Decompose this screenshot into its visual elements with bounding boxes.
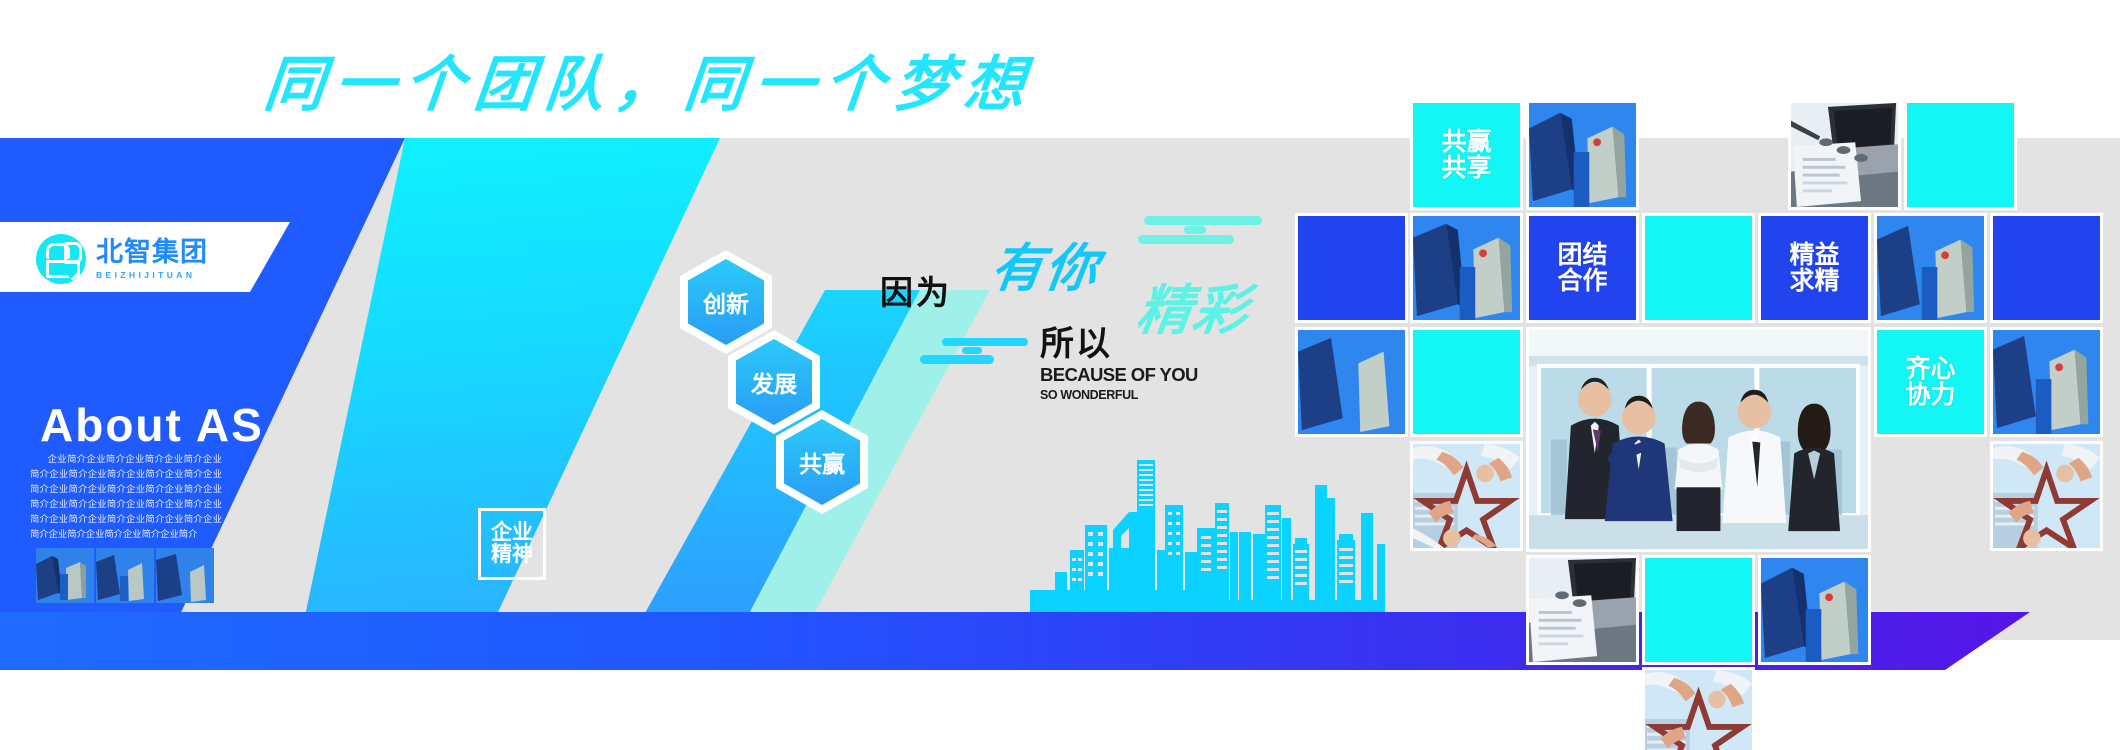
office-towers-art: [36, 548, 94, 603]
tile-winwin-share-line-2: 共享: [1441, 154, 1491, 182]
office-towers-art-3: [156, 548, 214, 603]
cloud-deco-icon-1: [1138, 212, 1268, 255]
photo-mosaic: 共赢共享: [1380, 55, 2120, 695]
tile-solid-cyan-r5[interactable]: [1642, 555, 1755, 665]
tile-excellence[interactable]: 精益求精: [1758, 213, 1871, 323]
about-heading: About AS: [40, 398, 264, 452]
slogan-highlight-2: 精彩: [1132, 266, 1255, 345]
spirit-line-1: 企业: [491, 521, 533, 544]
office-towers-photo-5: [1993, 330, 2100, 434]
hands-star-photo-2: [1993, 444, 2100, 548]
office-towers-photo-4: [1298, 330, 1405, 434]
tile-unity-line-2: 合作: [1557, 267, 1607, 295]
corporate-spirit-box: 企业 精神: [478, 508, 546, 580]
tile-solid-blue-r2-left[interactable]: [1295, 213, 1408, 323]
slogan-block: 因为 有你 精彩 所以 BECAUSE OF YOU SO WONDERFUL: [880, 218, 1300, 418]
tile-unity-cooperation[interactable]: 团结合作: [1526, 213, 1639, 323]
tile-solid-cyan-r1[interactable]: [1904, 100, 2017, 210]
poster-canvas: 同一个团队，同一个梦想 北智集团 BEIZHIJITUAN About AS 企…: [0, 0, 2120, 750]
photo-office-towers: [36, 548, 94, 603]
tile-photo-towers-r3-left[interactable]: [1295, 327, 1408, 437]
tile-photo-team[interactable]: [1526, 327, 1871, 552]
cyan-foot-block: [1030, 590, 1210, 614]
office-towers-art-2: [96, 548, 154, 603]
tile-winwin-share[interactable]: 共赢共享: [1410, 100, 1523, 210]
tile-photo-hands-right[interactable]: [1990, 441, 2103, 551]
hands-star-photo-3: [1645, 670, 1752, 750]
tile-photo-hands-left[interactable]: [1410, 441, 1523, 551]
tile-photo-towers-r2b[interactable]: [1874, 213, 1987, 323]
tile-photo-laptop-r1[interactable]: [1788, 100, 1901, 210]
cloud-deco-icon-2: [920, 336, 1030, 375]
office-towers-photo: [1529, 103, 1636, 207]
photo-office-towers-3: [156, 548, 214, 603]
tile-photo-laptop-r5[interactable]: [1526, 555, 1639, 665]
tile-photo-towers-r3-right[interactable]: [1990, 327, 2103, 437]
tile-unity-line-1: 团结: [1557, 241, 1607, 269]
tile-photo-hands-bottom[interactable]: [1642, 667, 1755, 750]
tile-excellence-line-1: 精益: [1789, 241, 1839, 269]
laptop-desk-photo-2: [1529, 558, 1636, 662]
tile-unity-strength-line-1: 齐心: [1905, 355, 1955, 383]
slogan-english-line-2: SO WONDERFUL: [1040, 388, 1138, 402]
slogan-prefix: 因为: [880, 266, 952, 314]
spirit-line-2: 精神: [491, 543, 533, 566]
slogan-middle: 所以: [1040, 316, 1112, 365]
tile-photo-towers-r5[interactable]: [1758, 555, 1871, 665]
tile-unity-strength[interactable]: 齐心协力: [1874, 327, 1987, 437]
logo: 北智集团 BEIZHIJITUAN: [36, 234, 208, 284]
company-mark-icon: [36, 234, 86, 284]
bottom-left-photo-strip: [36, 548, 214, 603]
office-towers-photo-6: [1761, 558, 1868, 662]
photo-office-towers-2: [96, 548, 154, 603]
logo-name-cn: 北智集团: [96, 239, 208, 266]
slogan-english-line-1: BECAUSE OF YOU: [1040, 364, 1198, 386]
tile-solid-blue-r2-right[interactable]: [1990, 213, 2103, 323]
hexagon-development-label: 发展: [736, 339, 812, 425]
tile-photo-towers-r2[interactable]: [1410, 213, 1523, 323]
logo-name-en: BEIZHIJITUAN: [96, 270, 208, 280]
slogan-highlight-1: 有你: [987, 226, 1106, 301]
tile-photo-towers-r1[interactable]: [1526, 100, 1639, 210]
laptop-desk-photo: [1791, 103, 1898, 207]
hexagon-innovation-label: 创新: [688, 259, 764, 345]
tile-excellence-line-2: 求精: [1789, 267, 1839, 295]
hexagon-winwin-label: 共赢: [784, 419, 860, 505]
tile-solid-cyan-r2[interactable]: [1642, 213, 1755, 323]
office-towers-photo-3: [1877, 216, 1984, 320]
office-towers-photo-2: [1413, 216, 1520, 320]
tile-solid-cyan-r3[interactable]: [1410, 327, 1523, 437]
page-title: 同一个团队，同一个梦想: [0, 36, 1305, 123]
about-body: 企业简介企业简介企业简介企业简介企业简介企业简介企业简介企业简介企业简介企业简介…: [30, 452, 222, 542]
tile-unity-strength-line-2: 协力: [1905, 381, 1955, 409]
tile-winwin-share-line-1: 共赢: [1441, 128, 1491, 156]
business-team-photo: [1529, 330, 1868, 549]
hands-star-photo: [1413, 444, 1520, 548]
